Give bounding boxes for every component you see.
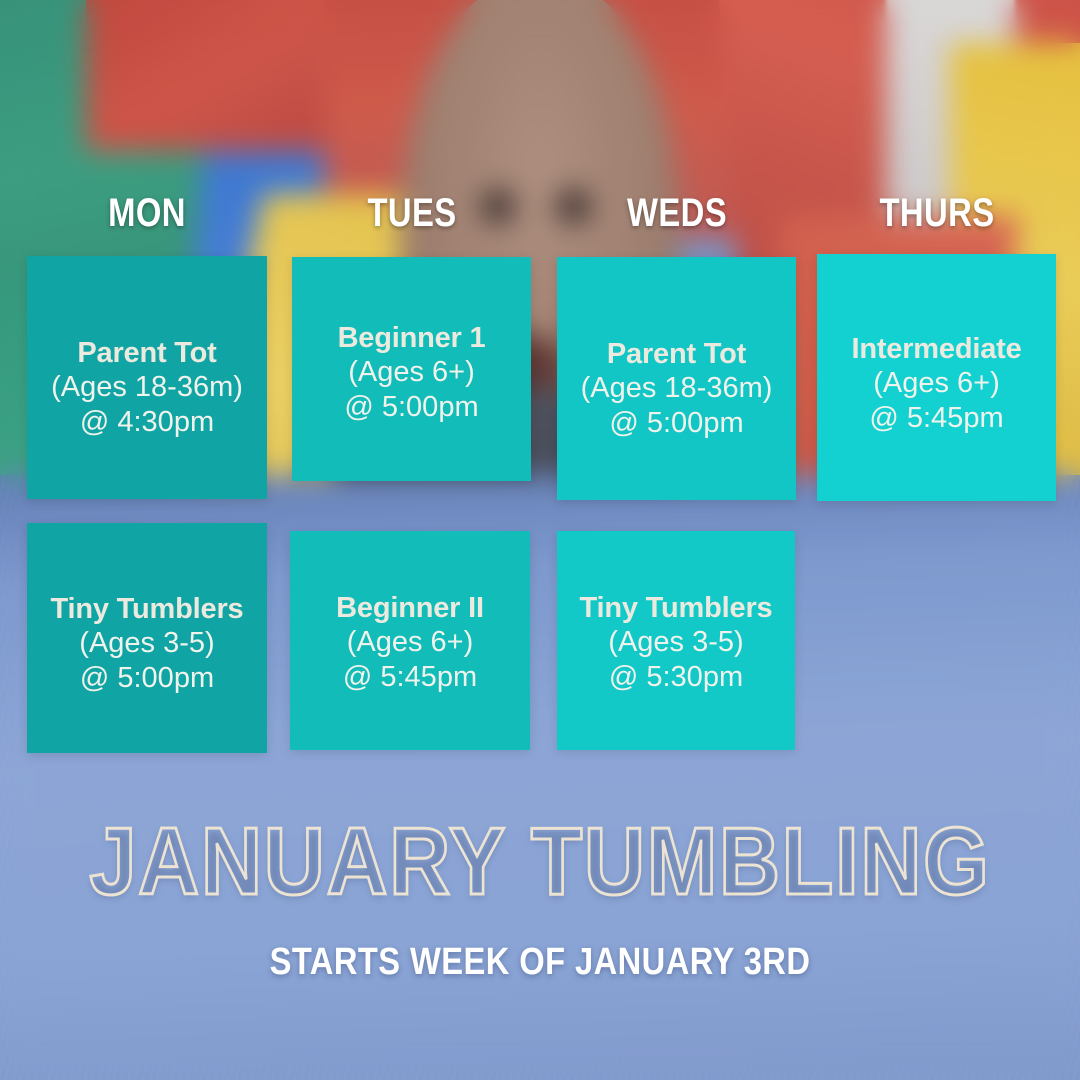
class-time: @ 5:45pm — [336, 660, 484, 695]
class-time: @ 4:30pm — [51, 405, 243, 440]
class-card[interactable]: Intermediate (Ages 6+) @ 5:45pm — [817, 254, 1056, 501]
class-card[interactable]: Tiny Tumblers (Ages 3-5) @ 5:30pm — [557, 531, 795, 750]
class-card[interactable]: Parent Tot (Ages 18-36m) @ 5:00pm — [557, 257, 796, 500]
schedule-flyer: MON TUES WEDS THURS Parent Tot (Ages 18-… — [0, 0, 1080, 1080]
headline-subtitle: STARTS WEEK OF JANUARY 3RD — [76, 940, 1005, 984]
class-title: Intermediate — [851, 332, 1021, 366]
class-card[interactable]: Parent Tot (Ages 18-36m) @ 4:30pm — [27, 256, 267, 499]
class-title: Beginner II — [336, 591, 484, 625]
class-time: @ 5:00pm — [51, 661, 244, 696]
class-time: @ 5:45pm — [851, 401, 1021, 436]
class-title: Parent Tot — [581, 337, 773, 371]
class-ages: (Ages 18-36m) — [581, 371, 773, 406]
day-header-row: MON TUES WEDS THURS — [0, 190, 1080, 242]
class-title: Tiny Tumblers — [580, 591, 773, 625]
class-title: Beginner 1 — [338, 321, 486, 355]
class-time: @ 5:00pm — [581, 406, 773, 441]
class-title: Parent Tot — [51, 336, 243, 370]
headline-title: JANUARY TUMBLING — [65, 812, 1015, 912]
class-ages: (Ages 18-36m) — [51, 370, 243, 405]
class-card[interactable]: Tiny Tumblers (Ages 3-5) @ 5:00pm — [27, 523, 267, 753]
class-card[interactable]: Beginner II (Ages 6+) @ 5:45pm — [290, 531, 530, 750]
class-title: Tiny Tumblers — [51, 592, 244, 626]
day-header-mon: MON — [49, 190, 246, 236]
class-ages: (Ages 3-5) — [580, 625, 773, 660]
day-header-tues: TUES — [314, 190, 511, 236]
class-ages: (Ages 6+) — [336, 625, 484, 660]
class-card[interactable]: Beginner 1 (Ages 6+) @ 5:00pm — [292, 257, 531, 481]
class-time: @ 5:00pm — [338, 390, 486, 425]
day-header-thurs: THURS — [839, 190, 1036, 236]
class-ages: (Ages 6+) — [851, 366, 1021, 401]
class-time: @ 5:30pm — [580, 660, 773, 695]
class-ages: (Ages 3-5) — [51, 626, 244, 661]
class-ages: (Ages 6+) — [338, 355, 486, 390]
day-header-weds: WEDS — [579, 190, 776, 236]
